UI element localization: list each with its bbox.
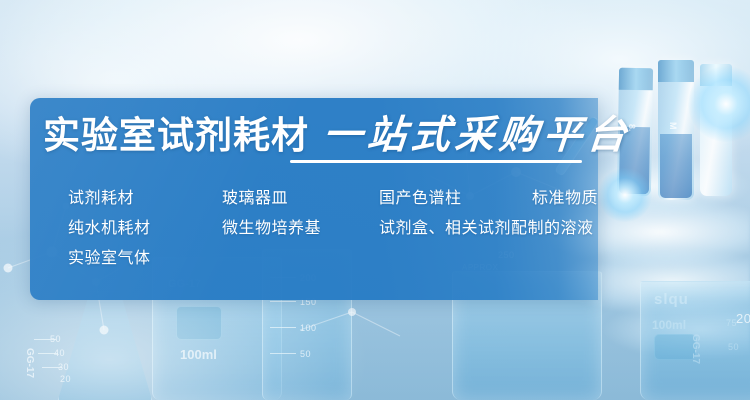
category-row: 纯水机耗材 微生物培养基 试剂盒、相关试剂配制的溶液 xyxy=(42,214,598,244)
category-item-water-purifier-consumables[interactable]: 纯水机耗材 xyxy=(68,214,151,244)
category-list: 试剂耗材 玻璃器皿 国产色谱柱 标准物质 纯水机耗材 微生物培养基 试剂盒、相关… xyxy=(42,184,598,274)
category-row: 实验室气体 xyxy=(42,244,598,274)
promo-banner: 8. M 50 40 30 20 GG-17 GG-17 100ml xyxy=(0,0,750,400)
category-item-reagent-consumables[interactable]: 试剂耗材 xyxy=(68,184,134,214)
category-row: 试剂耗材 玻璃器皿 国产色谱柱 标准物质 xyxy=(42,184,598,214)
category-item-reagent-kits-solutions[interactable]: 试剂盒、相关试剂配制的溶液 xyxy=(379,214,594,244)
category-item-microbial-culture-medium[interactable]: 微生物培养基 xyxy=(222,214,321,244)
banner-headline: 实验室试剂耗材 一站式采购平台 xyxy=(43,114,631,158)
category-item-laboratory-gas[interactable]: 实验室气体 xyxy=(68,244,151,274)
category-item-reference-material[interactable]: 标准物质 xyxy=(532,184,598,214)
banner-content-panel: 实验室试剂耗材 一站式采购平台 试剂耗材 玻璃器皿 国产色谱柱 标准物质 纯水机… xyxy=(30,98,598,300)
category-item-domestic-chromatography-column[interactable]: 国产色谱柱 xyxy=(379,184,462,214)
headline-underline xyxy=(290,160,582,163)
headline-brush-text: 一站式采购平台 xyxy=(321,114,633,158)
category-item-glassware[interactable]: 玻璃器皿 xyxy=(222,184,288,214)
headline-main-text: 实验室试剂耗材 xyxy=(43,114,309,158)
